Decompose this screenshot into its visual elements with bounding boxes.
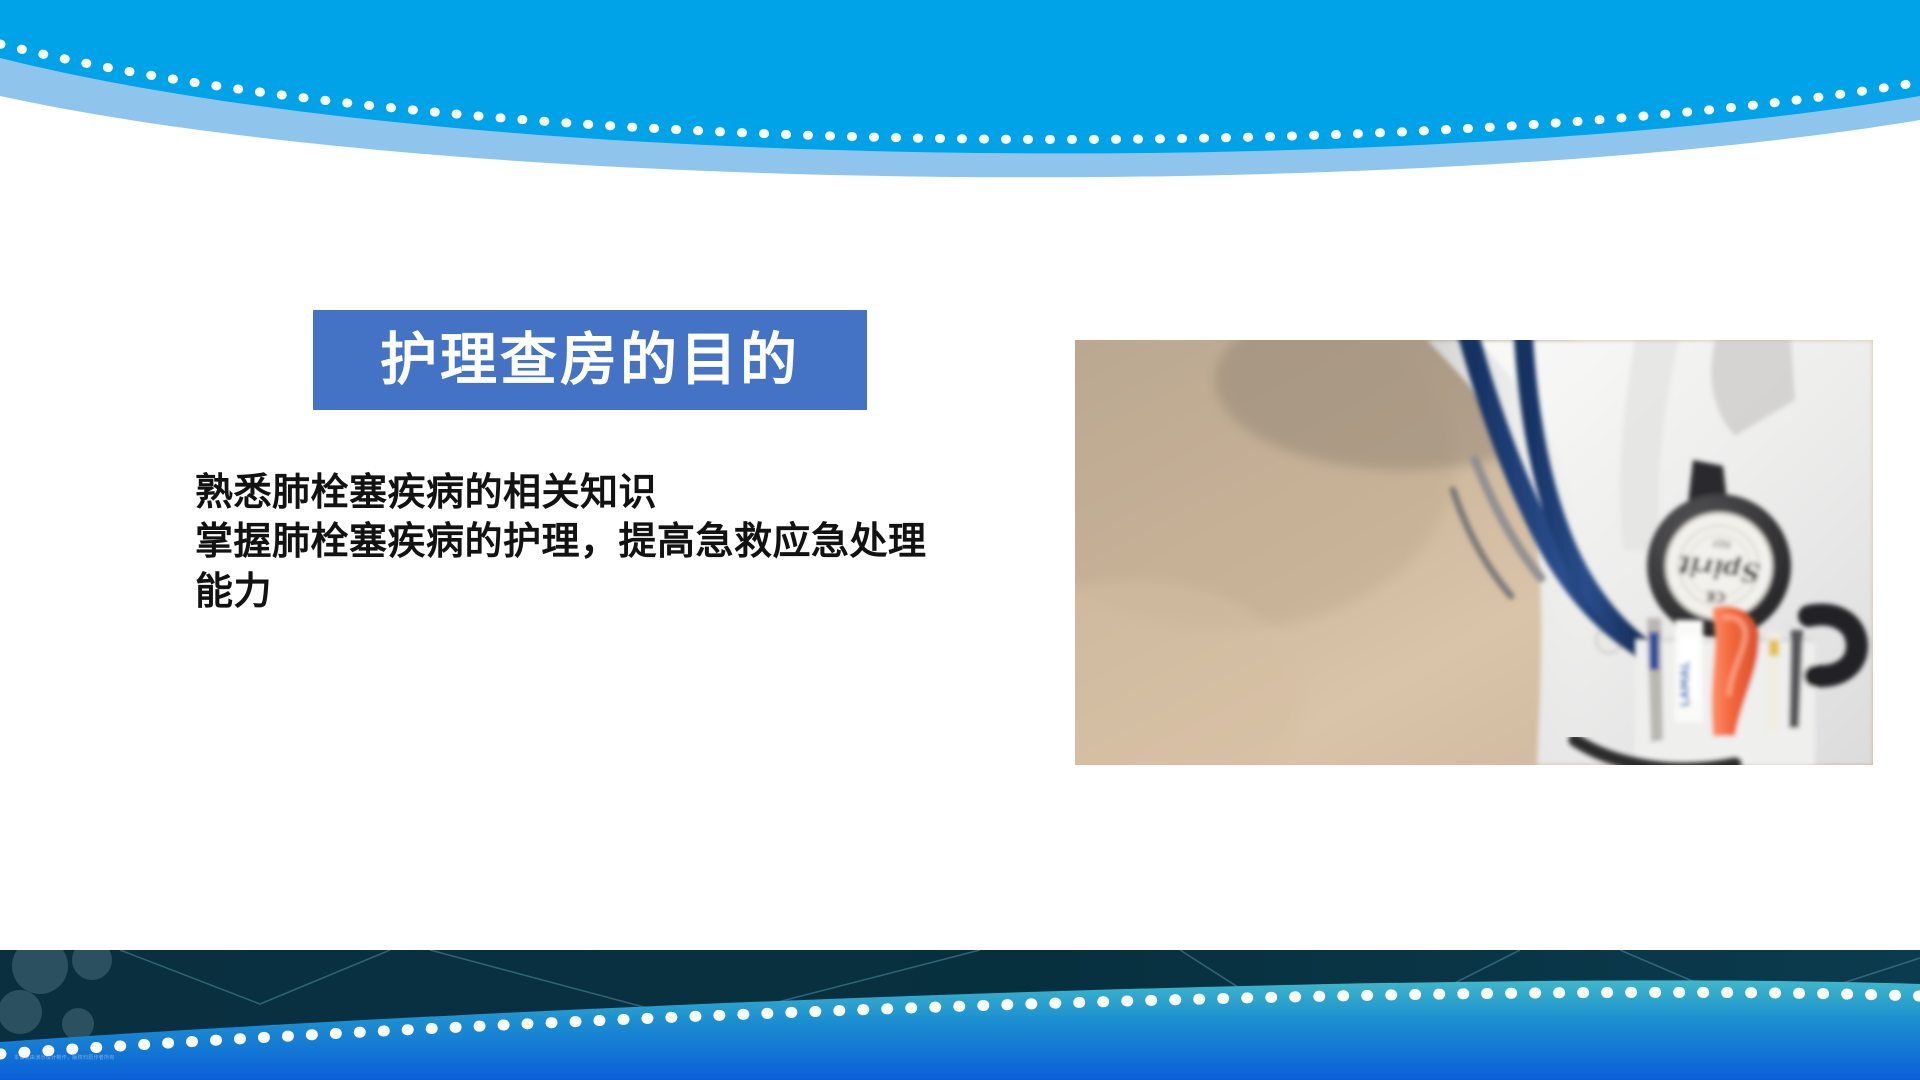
- bottom-gradient-wave: [0, 980, 1920, 1080]
- svg-text:CE: CE: [1705, 587, 1726, 605]
- top-dotted-line: [0, 44, 1920, 139]
- body-line-2: 掌握肺栓塞疾病的护理，提高急救应急处理: [195, 517, 985, 566]
- bottom-dotted-line: [0, 992, 1920, 1054]
- svg-text:REF: REF: [1711, 536, 1731, 549]
- body-line-3: 能力: [195, 567, 985, 616]
- bottom-decoration-banner: 本模板由演示设计制作，版权归原作者所有: [0, 950, 1920, 1080]
- body-line-1: 熟悉肺栓塞疾病的相关知识: [195, 468, 985, 517]
- micro-credit-text: 本模板由演示设计制作，版权归原作者所有: [14, 1054, 115, 1061]
- top-light-band: [0, 0, 1920, 177]
- top-decoration-banner: [0, 0, 1920, 180]
- slide-title-box: 护理查房的目的: [313, 310, 867, 410]
- network-lines: [120, 950, 1920, 1080]
- svg-text:LAMAL: LAMAL: [1678, 661, 1692, 707]
- doctor-stethoscope-photo: Spirit CE REF LAMAL: [1075, 340, 1873, 765]
- top-blue-wave: [0, 0, 1920, 153]
- page-title: 护理查房的目的: [380, 332, 800, 389]
- body-text-block: 熟悉肺栓塞疾病的相关知识 掌握肺栓塞疾病的护理，提高急救应急处理 能力: [195, 468, 985, 616]
- slide-canvas: 护理查房的目的 熟悉肺栓塞疾病的相关知识 掌握肺栓塞疾病的护理，提高急救应急处理…: [0, 0, 1920, 1080]
